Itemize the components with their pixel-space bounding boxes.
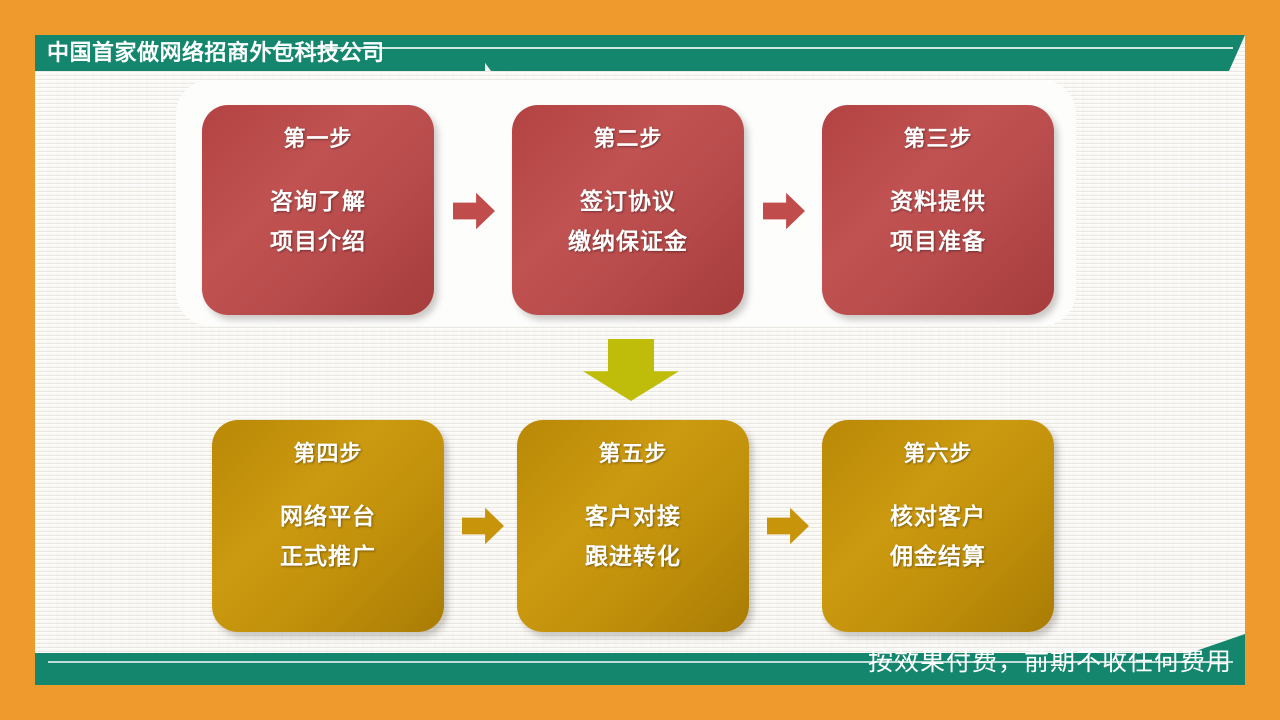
step-3-lines: 资料提供 项目准备 <box>822 181 1054 262</box>
footer-tagline: 按效果付费，前期不收任何费用 <box>868 641 1232 683</box>
step-6-line-1: 核对客户 <box>822 496 1054 536</box>
step-box-2[interactable]: 第二步 签订协议 缴纳保证金 <box>512 105 744 315</box>
step-5-line-1: 客户对接 <box>517 496 749 536</box>
step-4-line-2: 正式推广 <box>212 536 444 576</box>
step-box-3[interactable]: 第三步 资料提供 项目准备 <box>822 105 1054 315</box>
step-3-line-1: 资料提供 <box>822 181 1054 221</box>
step-1-line-1: 咨询了解 <box>202 181 434 221</box>
step-3-line-2: 项目准备 <box>822 221 1054 261</box>
step-4-lines: 网络平台 正式推广 <box>212 496 444 577</box>
step-6-line-2: 佣金结算 <box>822 536 1054 576</box>
step-6-lines: 核对客户 佣金结算 <box>822 496 1054 577</box>
slide-canvas: 中国首家做网络招商外包科技公司 第一步 咨询了解 项目介绍 第二步 签订协议 缴… <box>0 0 1280 720</box>
step-3-title: 第三步 <box>822 127 1054 151</box>
step-2-line-2: 缴纳保证金 <box>512 221 744 261</box>
step-4-line-1: 网络平台 <box>212 496 444 536</box>
step-box-5[interactable]: 第五步 客户对接 跟进转化 <box>517 420 749 632</box>
step-2-title: 第二步 <box>512 127 744 151</box>
step-1-lines: 咨询了解 项目介绍 <box>202 181 434 262</box>
step-box-1[interactable]: 第一步 咨询了解 项目介绍 <box>202 105 434 315</box>
step-2-lines: 签订协议 缴纳保证金 <box>512 181 744 262</box>
page-title: 中国首家做网络招商外包科技公司 <box>47 36 477 70</box>
step-box-6[interactable]: 第六步 核对客户 佣金结算 <box>822 420 1054 632</box>
step-box-4[interactable]: 第四步 网络平台 正式推广 <box>212 420 444 632</box>
step-1-title: 第一步 <box>202 127 434 151</box>
step-2-line-1: 签订协议 <box>512 181 744 221</box>
step-5-lines: 客户对接 跟进转化 <box>517 496 749 577</box>
step-5-title: 第五步 <box>517 442 749 466</box>
step-6-title: 第六步 <box>822 442 1054 466</box>
step-1-line-2: 项目介绍 <box>202 221 434 261</box>
step-4-title: 第四步 <box>212 442 444 466</box>
step-5-line-2: 跟进转化 <box>517 536 749 576</box>
